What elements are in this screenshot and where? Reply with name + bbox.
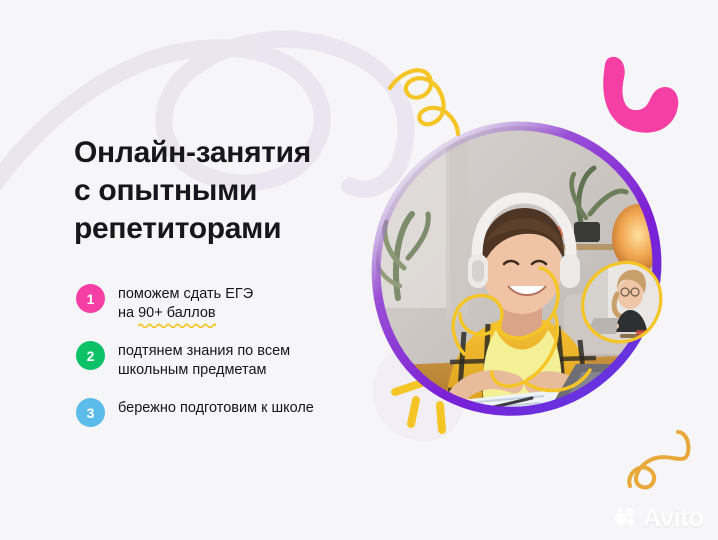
benefit-emphasis-text-1: 90+ баллов — [138, 305, 216, 321]
promo-banner: Онлайн-занятия с опытными репетиторами 1… — [0, 0, 718, 540]
hero-photo — [368, 118, 668, 418]
yellow-squiggle-bottom-decoration — [629, 432, 688, 487]
benefit-emphasis-1: 90+ баллов — [138, 304, 216, 323]
avito-watermark: Avito — [613, 504, 704, 530]
benefit-text-3: бережно подготовим к школе — [118, 397, 314, 418]
benefit-line-2b: школьным предметам — [118, 362, 267, 378]
avito-wordmark: Avito — [642, 504, 704, 530]
headline-line-3: репетиторами — [74, 210, 374, 248]
benefit-number-3: 3 — [87, 405, 95, 421]
list-item: 2 подтянем знания по всем школьным предм… — [76, 340, 406, 380]
page-title: Онлайн-занятия с опытными репетиторами — [74, 134, 374, 248]
benefit-line-2a: подтянем знания по всем — [118, 343, 290, 359]
headline-line-2: с опытными — [74, 172, 374, 210]
benefits-list: 1 поможем сдать ЕГЭ на 90+ баллов 2 подт… — [76, 283, 406, 427]
headline-line-1: Онлайн-занятия — [74, 134, 374, 172]
list-item: 1 поможем сдать ЕГЭ на 90+ баллов — [76, 283, 406, 323]
benefit-number-badge-1: 1 — [76, 284, 105, 313]
wavy-underline-icon — [138, 322, 216, 328]
hero-photo-svg — [368, 118, 668, 418]
benefit-text-1: поможем сдать ЕГЭ на 90+ баллов — [118, 283, 253, 323]
list-item: 3 бережно подготовим к школе — [76, 397, 406, 427]
benefit-line-3a: бережно подготовим к школе — [118, 400, 314, 416]
benefit-number-1: 1 — [87, 291, 95, 307]
benefit-number-badge-3: 3 — [76, 398, 105, 427]
benefit-number-2: 2 — [87, 348, 95, 364]
benefit-text-2: подтянем знания по всем школьным предмет… — [118, 340, 290, 380]
benefit-line-1a: поможем сдать ЕГЭ — [118, 286, 253, 302]
avito-dots-icon — [613, 505, 637, 529]
benefit-line-1b-prefix: на — [118, 305, 138, 321]
benefit-number-badge-2: 2 — [76, 341, 105, 370]
